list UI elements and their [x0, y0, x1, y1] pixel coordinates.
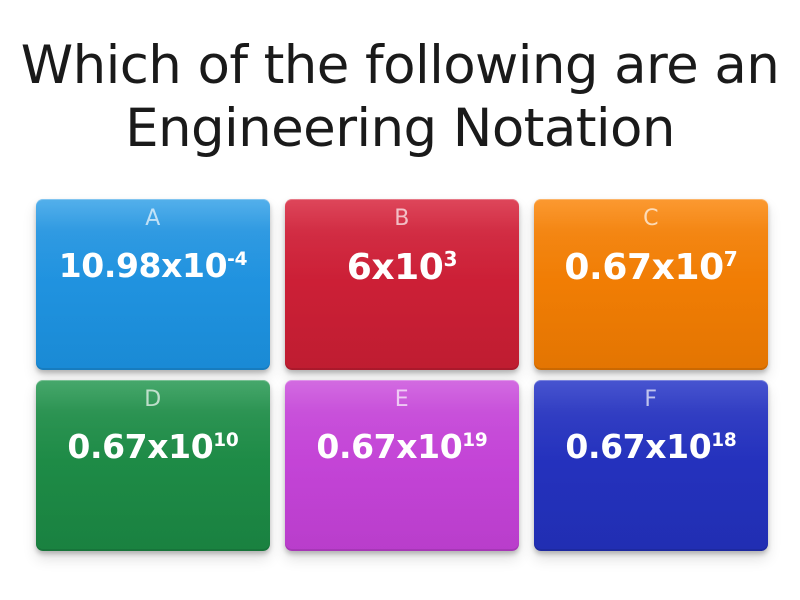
answer-value-e-base: 0.67x10 — [316, 427, 462, 466]
answer-value-f: 0.67x1018 — [534, 430, 768, 465]
answer-value-f-base: 0.67x10 — [565, 427, 711, 466]
answer-value-b: 6x103 — [285, 249, 519, 287]
answer-value-f-exponent: 18 — [711, 430, 736, 451]
answer-value-c-base: 0.67x10 — [564, 247, 723, 288]
answer-value-d-base: 0.67x10 — [67, 427, 213, 466]
answer-letter-e: E — [395, 389, 409, 411]
answer-letter-b: B — [394, 208, 410, 230]
answer-value-e: 0.67x1019 — [285, 430, 519, 465]
answer-value-e-exponent: 19 — [462, 430, 487, 451]
answer-card-f[interactable]: F 0.67x1018 — [534, 380, 768, 551]
answer-card-c[interactable]: C 0.67x107 — [534, 199, 768, 370]
answer-card-d[interactable]: D 0.67x1010 — [36, 380, 270, 551]
question-text: Which of the following are an Engineerin… — [20, 35, 780, 160]
question-area: Which of the following are an Engineerin… — [0, 18, 800, 178]
answer-value-a-base: 10.98x10 — [59, 246, 227, 285]
answer-value-b-base: 6x10 — [347, 247, 444, 288]
answer-card-e[interactable]: E 0.67x1019 — [285, 380, 519, 551]
answer-letter-a: A — [145, 208, 161, 230]
answer-value-c-exponent: 7 — [724, 247, 738, 271]
answer-value-a-exponent: -4 — [227, 249, 247, 270]
answer-value-c: 0.67x107 — [534, 249, 768, 287]
answer-value-a: 10.98x10-4 — [36, 249, 270, 284]
answer-letter-c: C — [643, 208, 659, 230]
answer-letter-f: F — [644, 389, 657, 411]
answer-options-grid: A 10.98x10-4 B 6x103 C 0.67x107 D 0.67x1… — [36, 199, 768, 551]
answer-card-a[interactable]: A 10.98x10-4 — [36, 199, 270, 370]
answer-value-d-exponent: 10 — [213, 430, 238, 451]
answer-value-d: 0.67x1010 — [36, 430, 270, 465]
answer-card-b[interactable]: B 6x103 — [285, 199, 519, 370]
answer-letter-d: D — [144, 389, 161, 411]
answer-value-b-exponent: 3 — [443, 247, 457, 271]
quiz-screen: Which of the following are an Engineerin… — [0, 0, 800, 600]
